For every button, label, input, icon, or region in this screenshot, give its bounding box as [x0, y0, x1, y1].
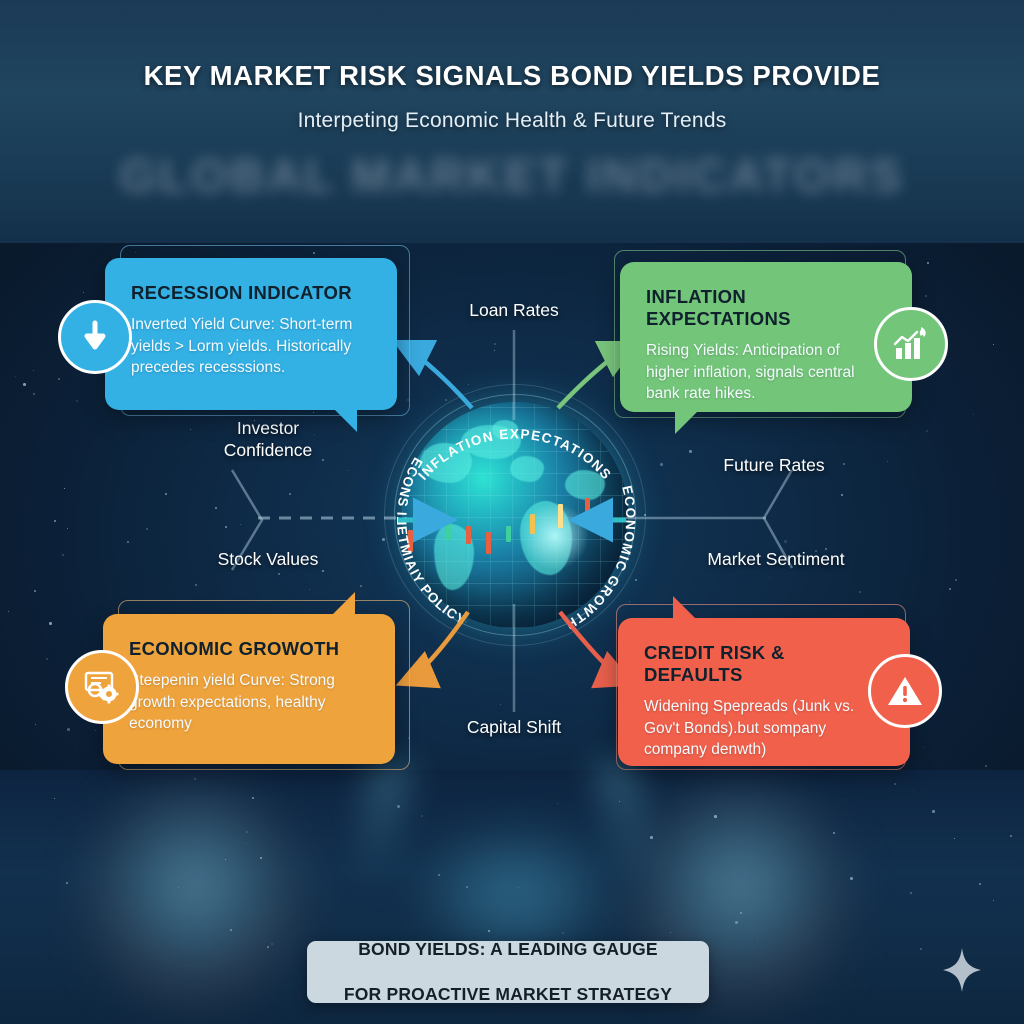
card-economic-growth[interactable]: ECONOMIC GROWOTH Steepenin yield Curve: …: [103, 614, 395, 764]
label-investor-confidence-line2: Confidence: [180, 440, 356, 462]
label-capital-shift: Capital Shift: [414, 717, 614, 739]
warning-triangle-icon: [886, 674, 924, 708]
card-tail-credit: [673, 596, 697, 620]
badge-credit[interactable]: [868, 654, 942, 728]
card-tail-inflation: [675, 410, 699, 434]
card-title-growth: ECONOMIC GROWOTH: [129, 638, 369, 660]
card-title-recession: RECESSION INDICATOR: [131, 282, 371, 304]
arrow-globe-to-growth: [404, 612, 468, 682]
document-gear-search-icon: [83, 669, 121, 705]
down-arrow-icon: [78, 320, 112, 354]
card-title-credit: CREDIT RISK & DEFAULTS: [644, 642, 884, 686]
label-future-rates: Future Rates: [684, 455, 864, 477]
four-point-star-icon: [942, 947, 982, 993]
bar-chart-flame-icon: [892, 326, 930, 362]
badge-inflation[interactable]: [874, 307, 948, 381]
badge-growth[interactable]: [65, 650, 139, 724]
connector-arrows: [0, 0, 1024, 1024]
card-body-growth: Steepenin yield Curve: Strong growth exp…: [129, 670, 369, 735]
card-credit-risk-defaults[interactable]: CREDIT RISK & DEFAULTS Widening Spepread…: [618, 618, 910, 766]
label-stock-values: Stock Values: [180, 549, 356, 571]
card-title-inflation: INFLATION EXPECTATIONS: [646, 286, 886, 330]
card-body-inflation: Rising Yields: Anticipation of higher in…: [646, 340, 886, 405]
card-recession-indicator[interactable]: RECESSION INDICATOR Inverted Yield Curve…: [105, 258, 397, 410]
footer-line-1: BOND YIELDS: A LEADING GAUGE: [344, 938, 672, 960]
card-inflation-expectations[interactable]: INFLATION EXPECTATIONS Rising Yields: An…: [620, 262, 912, 412]
footer-text: BOND YIELDS: A LEADING GAUGE FOR PROACTI…: [344, 938, 672, 1005]
card-body-recession: Inverted Yield Curve: Short-term yields …: [131, 314, 371, 379]
card-body-credit: Widening Spepreads (Junk vs. Gov't Bonds…: [644, 696, 884, 761]
footer-line-2: FOR PROACTIVE MARKET STRATEGY: [344, 983, 672, 1005]
label-market-sentiment: Market Sentiment: [678, 549, 874, 571]
infographic-canvas: GLOBAL MARKET INDICATORS KEY MARKET RISK…: [0, 0, 1024, 1024]
label-investor-confidence: Investor Confidence: [180, 418, 356, 462]
footer-banner[interactable]: BOND YIELDS: A LEADING GAUGE FOR PROACTI…: [307, 941, 709, 1003]
label-investor-confidence-line1: Investor: [180, 418, 356, 440]
card-tail-growth: [331, 592, 355, 616]
arrow-globe-to-recession: [400, 344, 472, 408]
badge-recession[interactable]: [58, 300, 132, 374]
label-loan-rates: Loan Rates: [414, 300, 614, 322]
card-tail-recession: [333, 408, 357, 432]
